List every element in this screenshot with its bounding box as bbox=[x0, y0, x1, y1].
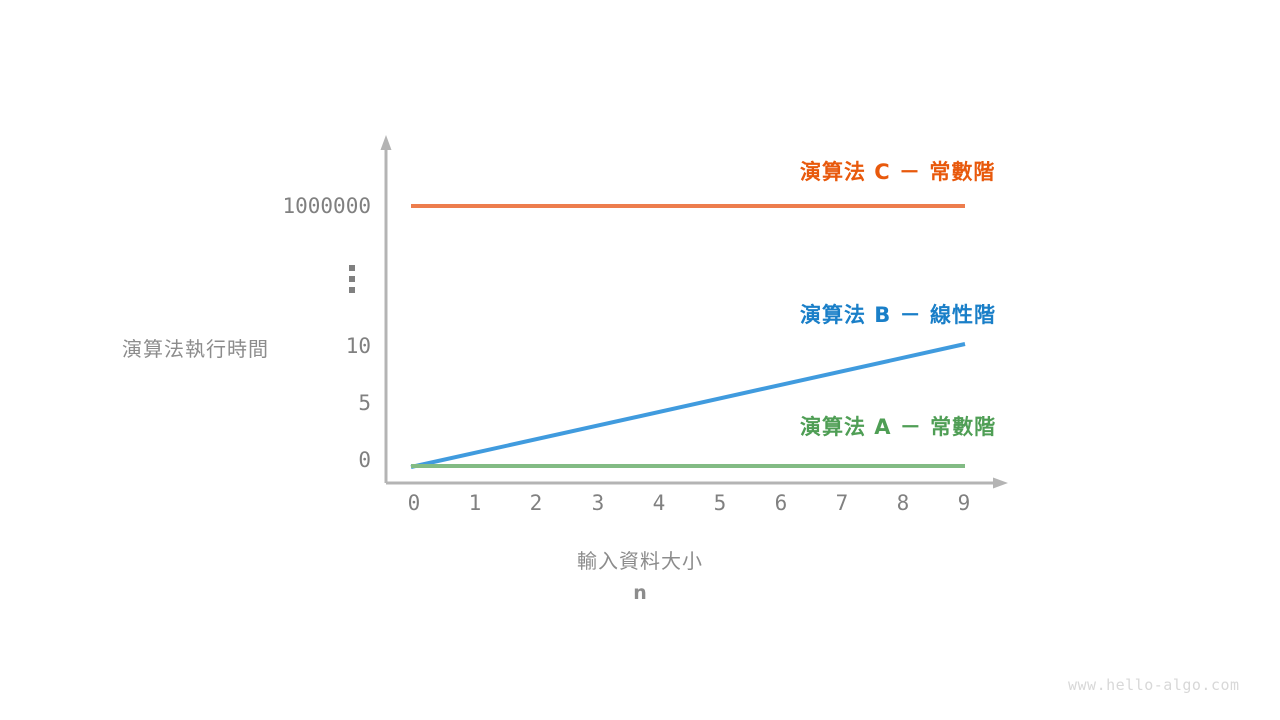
x-axis-arrowhead bbox=[993, 478, 1008, 489]
x-tick-label-8: 8 bbox=[883, 493, 923, 514]
y-tick-label-0: 0 bbox=[358, 450, 371, 471]
chart-figure: 演算法執行時間 1000000 10 5 0 0 1 2 3 4 5 6 7 8… bbox=[0, 0, 1280, 720]
legend-label-algorithm-b: 演算法 B － 線性階 bbox=[800, 299, 996, 329]
y-axis-arrowhead bbox=[381, 135, 392, 150]
watermark-text: www.hello-algo.com bbox=[1068, 676, 1240, 694]
x-tick-label-5: 5 bbox=[700, 493, 740, 514]
legend-label-algorithm-a: 演算法 A － 常數階 bbox=[800, 411, 996, 441]
ellipsis-dot bbox=[349, 276, 355, 282]
x-tick-label-7: 7 bbox=[822, 493, 862, 514]
legend-label-algorithm-c: 演算法 C － 常數階 bbox=[800, 156, 995, 186]
y-tick-label-10: 10 bbox=[346, 336, 371, 357]
x-tick-label-3: 3 bbox=[578, 493, 618, 514]
x-tick-label-4: 4 bbox=[639, 493, 679, 514]
y-tick-label-5: 5 bbox=[358, 393, 371, 414]
ellipsis-dot bbox=[349, 287, 355, 293]
x-tick-label-6: 6 bbox=[761, 493, 801, 514]
x-tick-label-0: 0 bbox=[394, 493, 434, 514]
y-tick-label-1000000: 1000000 bbox=[282, 196, 371, 217]
x-axis-title-symbol: n bbox=[0, 582, 1280, 604]
ellipsis-dot bbox=[349, 265, 355, 271]
x-axis-title: 輸入資料大小 bbox=[0, 545, 1280, 574]
series-line-algorithm-b bbox=[411, 344, 965, 467]
x-tick-label-9: 9 bbox=[944, 493, 984, 514]
x-tick-label-1: 1 bbox=[455, 493, 495, 514]
y-tick-ellipsis-icon bbox=[348, 265, 356, 293]
y-axis-title: 演算法執行時間 bbox=[122, 333, 269, 362]
x-tick-label-2: 2 bbox=[516, 493, 556, 514]
